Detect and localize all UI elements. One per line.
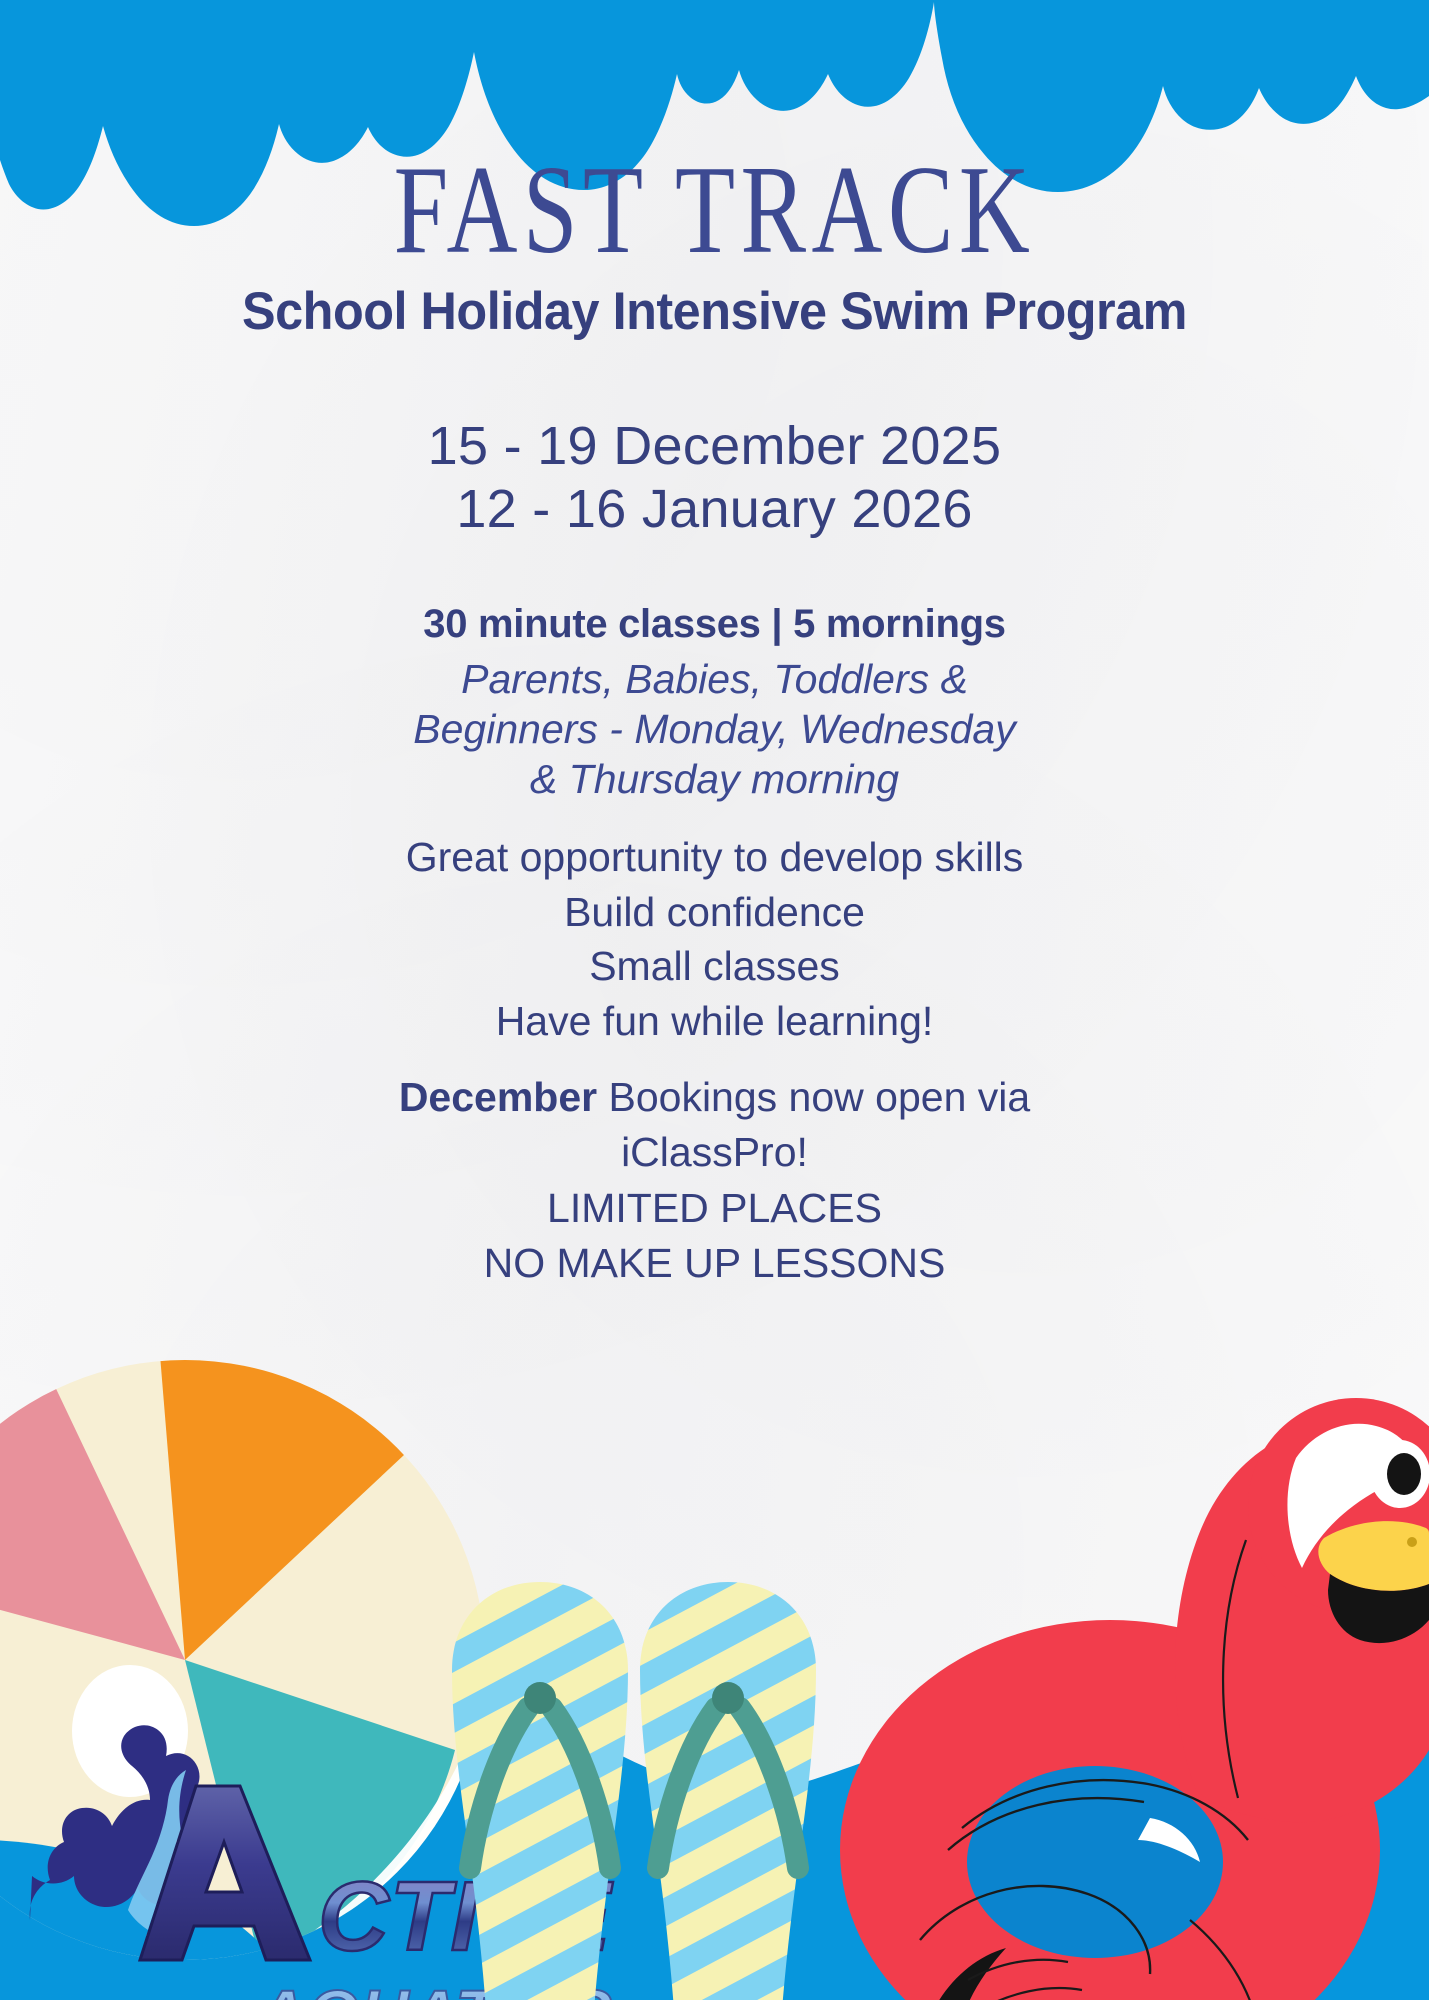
booking-line-1-rest: Bookings now open via bbox=[597, 1074, 1030, 1120]
audience-line-2: Beginners - Monday, Wednesday bbox=[200, 704, 1229, 754]
class-audience: Parents, Babies, Toddlers & Beginners - … bbox=[0, 654, 1429, 804]
benefit-line-1: Great opportunity to develop skills bbox=[0, 830, 1429, 885]
booking-no-makeup: NO MAKE UP LESSONS bbox=[0, 1236, 1429, 1291]
booking-month: December bbox=[399, 1074, 597, 1120]
program-dates: 15 - 19 December 2025 12 - 16 January 20… bbox=[0, 415, 1429, 540]
date-line-1: 15 - 19 December 2025 bbox=[0, 415, 1429, 478]
class-info-section: 30 minute classes | 5 mornings Parents, … bbox=[0, 600, 1429, 804]
booking-platform: iClassPro! bbox=[0, 1125, 1429, 1180]
audience-line-1: Parents, Babies, Toddlers & bbox=[200, 654, 1229, 704]
benefit-line-3: Small classes bbox=[0, 939, 1429, 994]
poster-text-content: FAST TRACK School Holiday Intensive Swim… bbox=[0, 0, 1429, 2000]
date-line-2: 12 - 16 January 2026 bbox=[0, 478, 1429, 541]
booking-section: December Bookings now open via iClassPro… bbox=[0, 1070, 1429, 1291]
class-headline: 30 minute classes | 5 mornings bbox=[0, 600, 1429, 648]
poster-canvas: CTIVE AQUATICS bbox=[0, 0, 1429, 2000]
audience-line-3: & Thursday morning bbox=[200, 754, 1229, 804]
benefits-section: Great opportunity to develop skills Buil… bbox=[0, 830, 1429, 1048]
benefit-line-4: Have fun while learning! bbox=[0, 994, 1429, 1049]
booking-limited-places: LIMITED PLACES bbox=[0, 1181, 1429, 1236]
booking-line-1: December Bookings now open via bbox=[0, 1070, 1429, 1125]
poster-subtitle: School Holiday Intensive Swim Program bbox=[36, 282, 1394, 341]
page-title: FAST TRACK bbox=[157, 148, 1272, 274]
benefit-line-2: Build confidence bbox=[0, 885, 1429, 940]
